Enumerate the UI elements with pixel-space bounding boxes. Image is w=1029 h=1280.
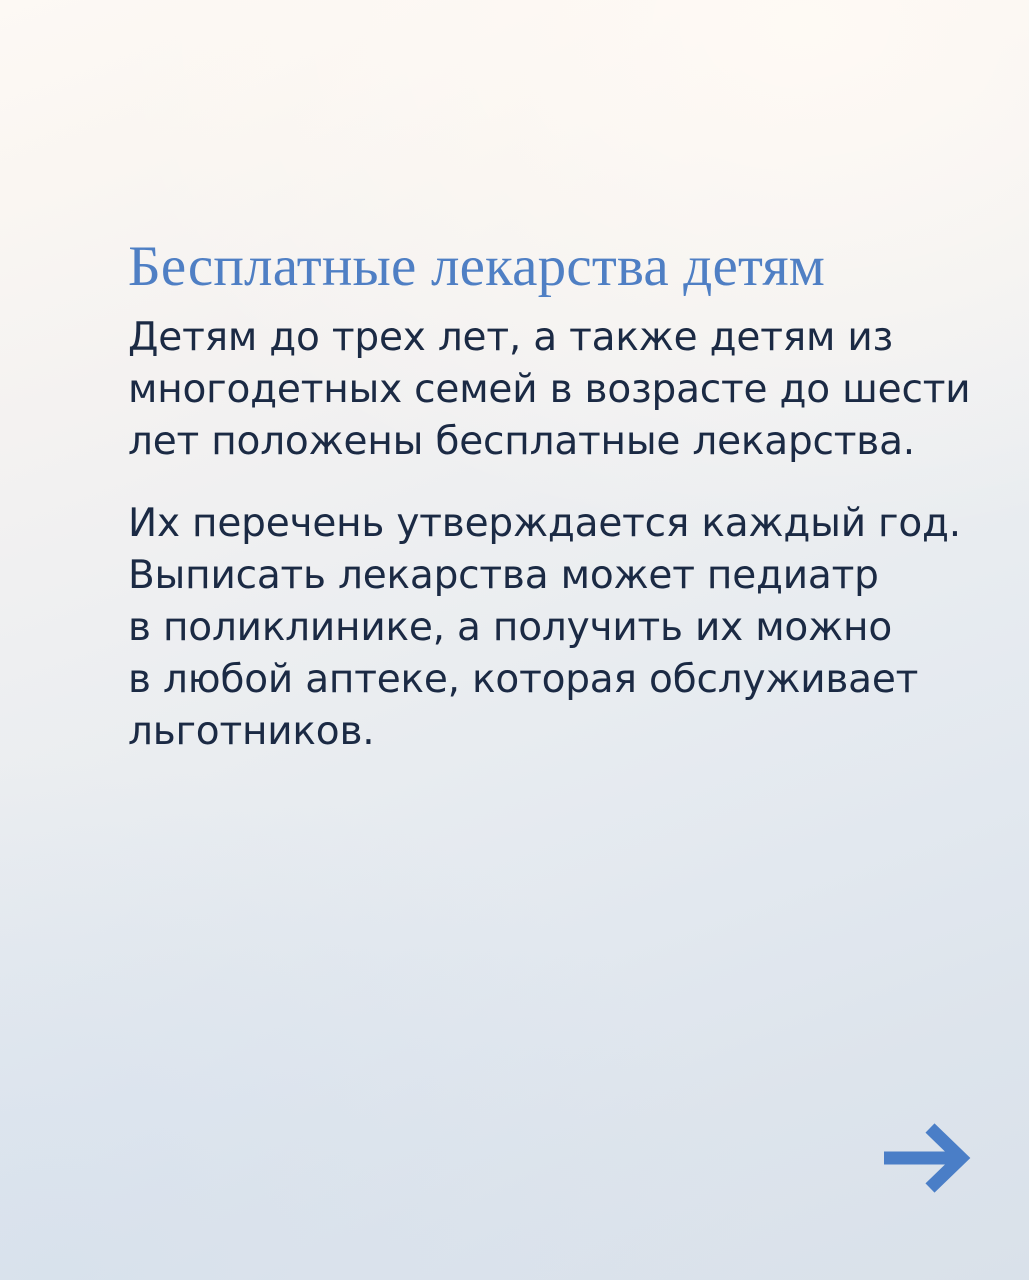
arrow-right-icon [880, 1120, 972, 1196]
slide-paragraph-2: Их перечень утверждается каждый год. Вып… [128, 498, 978, 758]
slide-card: Бесплатные лекарства детям Детям до трех… [0, 0, 1029, 1280]
slide-paragraph-1: Детям до трех лет, а также детям из мног… [128, 312, 978, 468]
slide-content: Бесплатные лекарства детям Детям до трех… [128, 236, 978, 758]
next-slide-button[interactable] [880, 1120, 972, 1196]
page-title: Бесплатные лекарства детям [128, 236, 978, 298]
